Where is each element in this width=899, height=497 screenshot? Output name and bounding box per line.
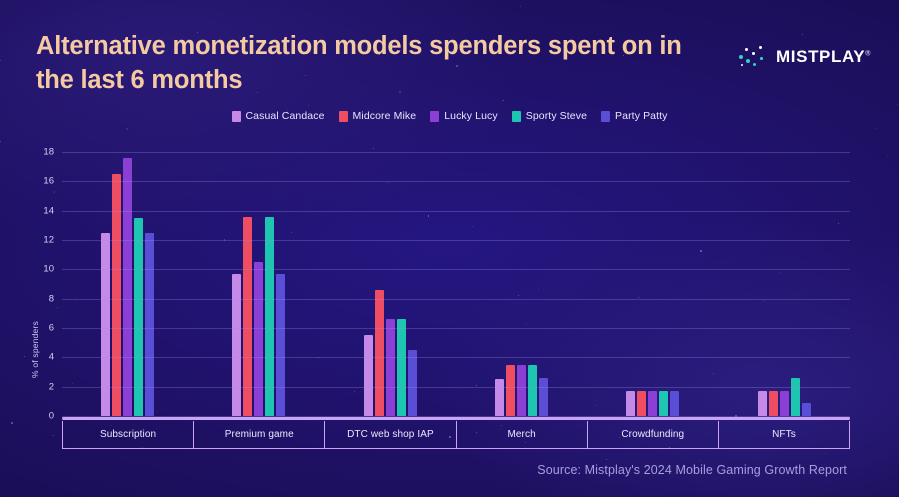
bar-lucky-lucy[interactable] [648,391,657,416]
legend-item-casual-candace[interactable]: Casual Candace [232,110,325,122]
y-axis-tick-label: 0 [49,411,54,422]
bar-casual-candace[interactable] [364,335,373,416]
bar-sporty-steve[interactable] [791,378,800,416]
legend-item-label: Party Patty [615,110,667,122]
bar-lucky-lucy[interactable] [517,365,526,416]
legend-swatch-icon [512,111,521,122]
gridline [62,240,850,241]
y-axis-tick-label: 18 [43,147,54,158]
gridline [62,211,850,212]
legend-swatch-icon [232,111,241,122]
legend-item-label: Lucky Lucy [444,110,498,122]
legend-item-lucky-lucy[interactable]: Lucky Lucy [430,110,498,122]
star-decoration [502,100,504,102]
bar-group [193,152,324,416]
logo-text-label: MISTPLAY [776,47,865,66]
bar-group [325,152,456,416]
mistplay-logo: MISTPLAY® [737,42,871,72]
bar-casual-candace[interactable] [101,233,110,416]
x-axis-category-label: NFTs [719,421,849,448]
legend-item-midcore-mike[interactable]: Midcore Mike [339,110,417,122]
x-axis-categories: SubscriptionPremium gameDTC web shop IAP… [62,421,850,449]
gridline [62,328,850,329]
mistplay-dots-logo-icon [737,42,767,72]
bar-group [62,152,193,416]
logo-trademark: ® [865,50,871,57]
legend-item-label: Midcore Mike [353,110,417,122]
bar-party-patty[interactable] [670,391,679,416]
x-axis-category-label: Merch [457,421,588,448]
gridline [62,416,850,417]
gridline [62,299,850,300]
star-decoration [825,453,826,454]
y-axis-tick-label: 16 [43,176,54,187]
gridline [62,152,850,153]
bar-group [719,152,850,416]
y-axis-tick-label: 6 [49,323,54,334]
x-axis-category-label: Premium game [194,421,325,448]
bar-party-patty[interactable] [539,378,548,416]
bar-chart: % of spenders 024681012141618 Subscripti… [0,140,899,440]
star-decoration [308,105,309,106]
star-decoration [897,104,898,105]
star-decoration [700,460,701,461]
x-axis-category-label: Subscription [63,421,194,448]
legend-item-party-patty[interactable]: Party Patty [601,110,667,122]
bar-lucky-lucy[interactable] [780,391,789,416]
y-axis-tick-label: 10 [43,264,54,275]
bar-group-bars [193,152,324,416]
y-axis-tick-label: 2 [49,381,54,392]
bar-groups [62,152,850,416]
bar-group-bars [719,152,850,416]
bar-sporty-steve[interactable] [528,365,537,416]
bar-midcore-mike[interactable] [769,391,778,416]
gridline [62,269,850,270]
page-title: Alternative monetization models spenders… [36,30,726,97]
gridline [62,357,850,358]
y-axis-label: % of spenders [30,321,40,378]
x-axis-category-label: Crowdfunding [588,421,719,448]
bar-party-patty[interactable] [276,274,285,416]
bar-sporty-steve[interactable] [397,319,406,416]
legend-swatch-icon [339,111,348,122]
star-decoration [520,6,521,7]
bar-party-patty[interactable] [802,403,811,416]
bar-group-bars [456,152,587,416]
bar-group-bars [62,152,193,416]
star-decoration [0,60,1,61]
source-note: Source: Mistplay's 2024 Mobile Gaming Gr… [537,463,847,477]
legend-item-label: Sporty Steve [526,110,587,122]
y-axis-tick-label: 14 [43,205,54,216]
star-decoration [126,128,128,130]
infographic-root: Alternative monetization models spenders… [0,0,899,497]
legend-item-sporty-steve[interactable]: Sporty Steve [512,110,587,122]
bar-casual-candace[interactable] [758,391,767,416]
bar-casual-candace[interactable] [232,274,241,416]
star-decoration [606,459,607,460]
bar-midcore-mike[interactable] [506,365,515,416]
bar-party-patty[interactable] [408,350,417,416]
mistplay-wordmark: MISTPLAY® [776,47,871,67]
legend-item-label: Casual Candace [246,110,325,122]
bar-midcore-mike[interactable] [637,391,646,416]
x-axis-baseline [62,417,850,420]
x-axis-category-label: DTC web shop IAP [325,421,456,448]
bar-lucky-lucy[interactable] [386,319,395,416]
bar-lucky-lucy[interactable] [254,262,263,416]
legend-swatch-icon [601,111,610,122]
chart-legend: Casual CandaceMidcore MikeLucky LucySpor… [0,110,899,122]
star-decoration [802,34,803,35]
bar-group [587,152,718,416]
bar-lucky-lucy[interactable] [123,158,132,416]
bar-midcore-mike[interactable] [375,290,384,416]
gridline [62,181,850,182]
y-axis-tick-label: 12 [43,235,54,246]
bar-casual-candace[interactable] [626,391,635,416]
bar-sporty-steve[interactable] [659,391,668,416]
bar-party-patty[interactable] [145,233,154,416]
legend-swatch-icon [430,111,439,122]
gridline [62,387,850,388]
plot-area: 024681012141618 [62,152,850,416]
star-decoration [876,128,877,129]
bar-group [456,152,587,416]
bar-casual-candace[interactable] [495,379,504,416]
y-axis-tick-label: 4 [49,352,54,363]
y-axis-tick-label: 8 [49,293,54,304]
bar-group-bars [587,152,718,416]
bar-group-bars [325,152,456,416]
